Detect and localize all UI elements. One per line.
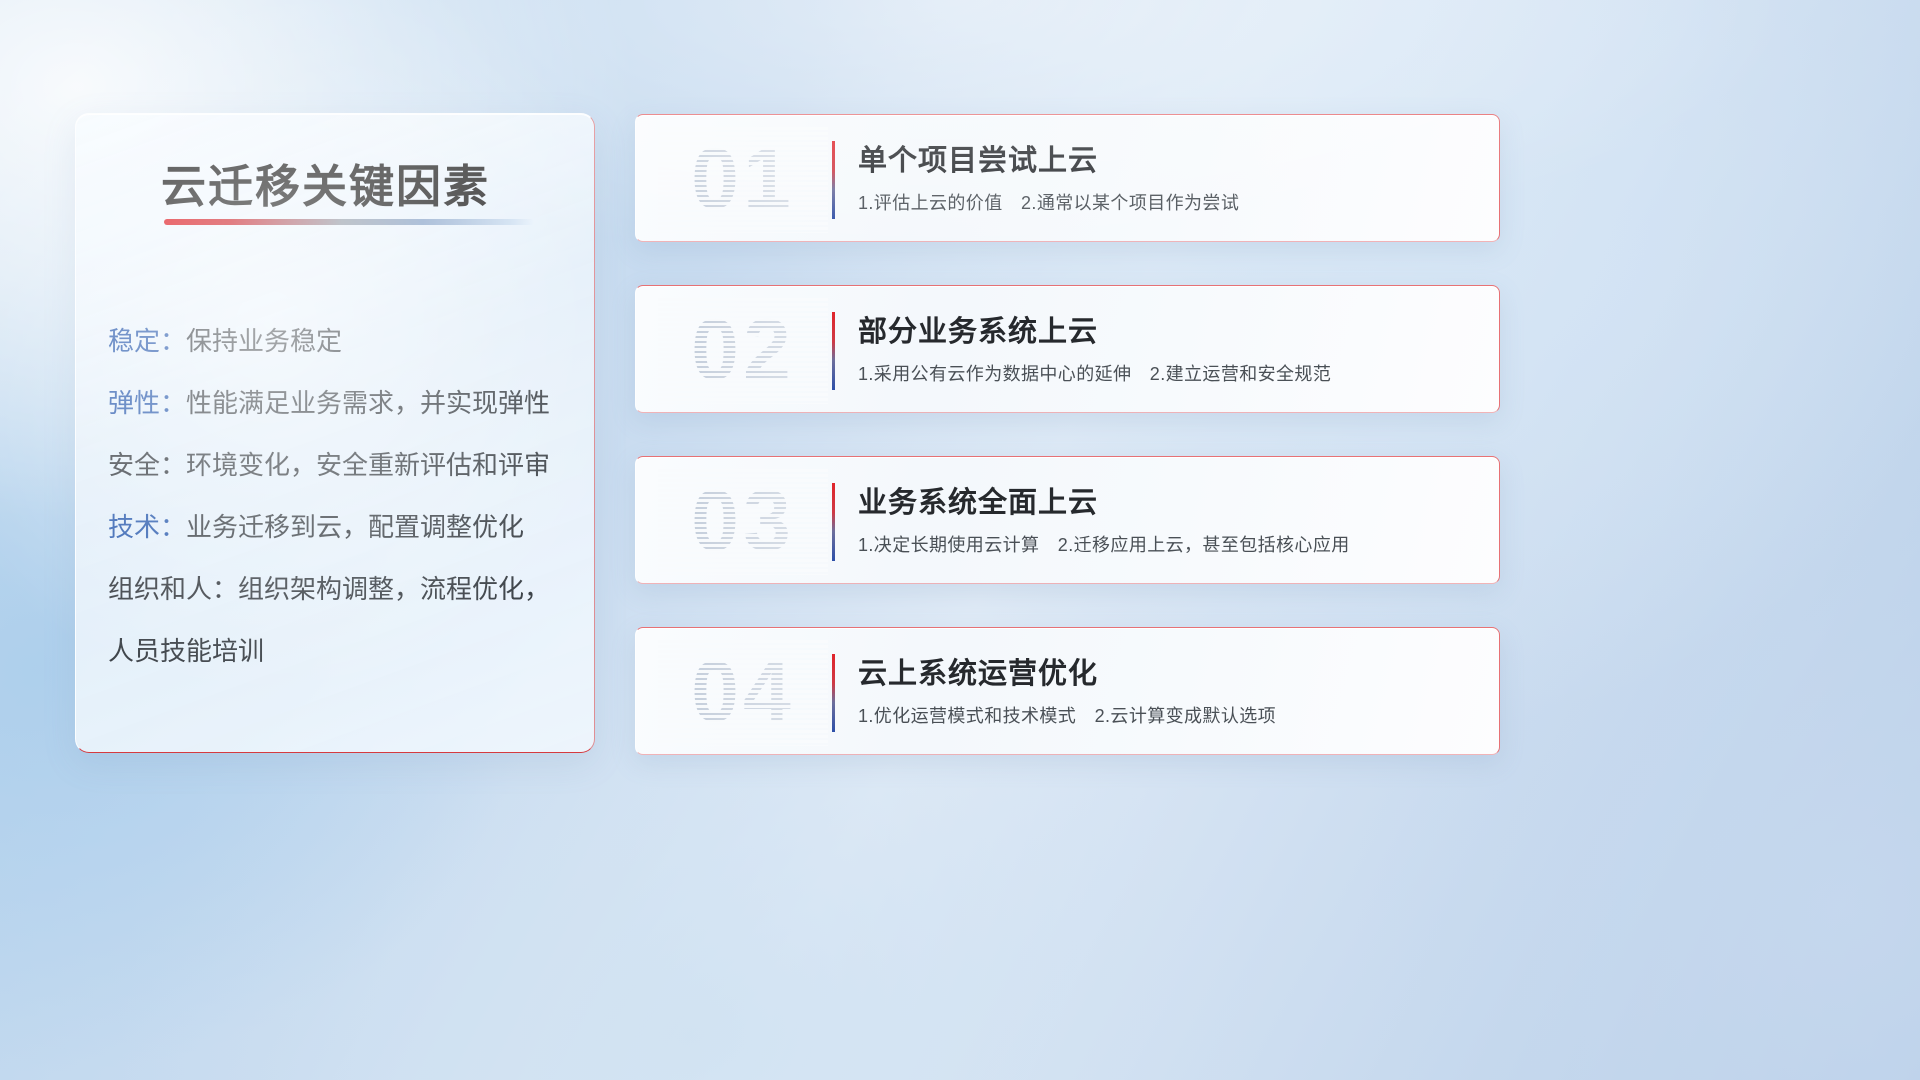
step-title: 业务系统全面上云: [858, 479, 1098, 521]
page-title: 云迁移关键因素: [161, 150, 490, 215]
key-factors-list: 稳定：保持业务稳定 弹性：性能满足业务需求，并实现弹性 安全：环境变化，安全重新…: [108, 310, 576, 682]
key-factors-panel: 云迁移关键因素 稳定：保持业务稳定 弹性：性能满足业务需求，并实现弹性 安全：环…: [75, 113, 595, 753]
step-card[interactable]: 04 云上系统运营优化 1.优化运营模式和技术模式 2.云计算变成默认选项: [635, 627, 1500, 755]
step-title: 云上系统运营优化: [858, 650, 1098, 692]
factor-text: 组织架构调整，流程优化，: [238, 574, 550, 604]
factor-text: 环境变化，安全重新评估和评审: [186, 450, 550, 480]
list-item-continuation: 人员技能培训: [108, 620, 576, 682]
step-title: 单个项目尝试上云: [858, 137, 1098, 179]
step-card[interactable]: 02 部分业务系统上云 1.采用公有云作为数据中心的延伸 2.建立运营和安全规范: [635, 285, 1500, 413]
step-number-text: 04: [658, 638, 828, 746]
slide-canvas: 云迁移关键因素 稳定：保持业务稳定 弹性：性能满足业务需求，并实现弹性 安全：环…: [0, 0, 1920, 1080]
factor-label: 技术：: [108, 512, 186, 542]
title-underline-rule: [164, 219, 534, 225]
factor-text: 保持业务稳定: [186, 326, 342, 356]
factor-label: 组织和人：: [108, 574, 238, 604]
step-title: 部分业务系统上云: [858, 308, 1098, 350]
step-number-badge: 03: [658, 467, 828, 575]
step-divider-rule: [832, 141, 835, 219]
step-number-badge: 01: [658, 125, 828, 233]
factor-label: 安全：: [108, 450, 186, 480]
step-subtitle: 1.优化运营模式和技术模式 2.云计算变成默认选项: [858, 702, 1276, 728]
factor-text: 人员技能培训: [108, 636, 264, 666]
step-divider-rule: [832, 483, 835, 561]
list-item: 稳定：保持业务稳定: [108, 310, 576, 372]
factor-text: 业务迁移到云，配置调整优化: [186, 512, 524, 542]
factor-label: 稳定：: [108, 326, 186, 356]
step-number-text: 01: [658, 125, 828, 233]
step-card[interactable]: 03 业务系统全面上云 1.决定长期使用云计算 2.迁移应用上云，甚至包括核心应…: [635, 456, 1500, 584]
list-item: 技术：业务迁移到云，配置调整优化: [108, 496, 576, 558]
step-card[interactable]: 01 单个项目尝试上云 1.评估上云的价值 2.通常以某个项目作为尝试: [635, 114, 1500, 242]
factor-label: 弹性：: [108, 388, 186, 418]
step-divider-rule: [832, 654, 835, 732]
step-number-text: 02: [658, 296, 828, 404]
step-subtitle: 1.评估上云的价值 2.通常以某个项目作为尝试: [858, 189, 1239, 215]
step-number-badge: 04: [658, 638, 828, 746]
factor-text: 性能满足业务需求，并实现弹性: [186, 388, 550, 418]
list-item: 安全：环境变化，安全重新评估和评审: [108, 434, 576, 496]
step-subtitle: 1.决定长期使用云计算 2.迁移应用上云，甚至包括核心应用: [858, 531, 1350, 557]
step-number-text: 03: [658, 467, 828, 575]
step-number-badge: 02: [658, 296, 828, 404]
list-item: 组织和人：组织架构调整，流程优化，: [108, 558, 576, 620]
step-subtitle: 1.采用公有云作为数据中心的延伸 2.建立运营和安全规范: [858, 360, 1331, 386]
step-divider-rule: [832, 312, 835, 390]
list-item: 弹性：性能满足业务需求，并实现弹性: [108, 372, 576, 434]
